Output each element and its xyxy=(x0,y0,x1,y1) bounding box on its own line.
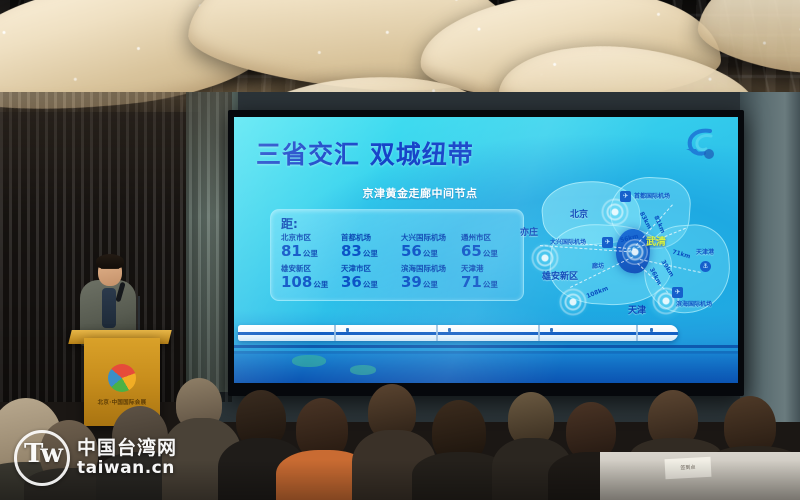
table-signage: 签到点 xyxy=(665,457,712,479)
slide-title: 三省交汇 双城纽带 xyxy=(256,135,474,171)
distance-cell: 大兴国际机场 56公里 xyxy=(399,232,457,262)
anchor-icon: ⚓ xyxy=(700,261,711,272)
distance-cell: 天津港 71公里 xyxy=(459,263,517,293)
podium-logo-text: 北京·中国国际会展 xyxy=(92,398,152,406)
distance-value: 56公里 xyxy=(401,243,457,262)
distance-value: 36公里 xyxy=(341,274,397,293)
watermark-cn-text: 中国台湾网 xyxy=(77,439,177,458)
airplane-icon: ✈ xyxy=(602,237,613,248)
map-island xyxy=(350,365,376,375)
map-label-langfang: 廊坊 xyxy=(592,261,604,270)
podium-logo-icon xyxy=(108,364,136,392)
distance-value: 81公里 xyxy=(281,243,337,262)
distance-value: 71公里 xyxy=(461,274,517,293)
distance-info-card: 距: 北京市区 81公里 首都机场 83公里 大兴国际机场 56公里 通州市区 … xyxy=(270,209,524,301)
distance-value: 108公里 xyxy=(281,274,337,293)
region-map: 北京 亦庄 雄安新区 天津 廊坊 武清 ✈ 首都国际机场 ✈ 大兴国际机场 ✈ … xyxy=(524,177,738,327)
distance-cell: 天津市区 36公里 xyxy=(339,263,397,293)
airplane-icon: ✈ xyxy=(672,287,683,298)
right-wall xyxy=(740,92,800,422)
map-poi-tianjin-port: 天津港 xyxy=(696,247,714,256)
speaker-glasses xyxy=(101,268,119,273)
high-speed-train xyxy=(238,325,678,341)
speaker-hair xyxy=(96,254,124,269)
distance-cell: 北京市区 81公里 xyxy=(279,232,337,262)
map-poi-daxing-airport: 大兴国际机场 xyxy=(550,237,586,246)
distance-value: 39公里 xyxy=(401,274,457,293)
distance-grid: 北京市区 81公里 首都机场 83公里 大兴国际机场 56公里 通州市区 65公… xyxy=(279,232,517,293)
watermark-logo-letters: Tw xyxy=(24,440,63,468)
distance-value: 83公里 xyxy=(341,243,397,262)
distance-cell: 雄安新区 108公里 xyxy=(279,263,337,293)
map-label-beijing: 北京 xyxy=(570,207,588,220)
map-label-xiongan: 雄安新区 xyxy=(542,269,578,282)
map-label-wuqing: 武清 xyxy=(646,233,666,248)
watermark-logo-icon: Tw xyxy=(14,430,70,486)
map-poi-binhai-airport: 滨海国际机场 xyxy=(676,299,712,308)
distance-cell: 通州市区 65公里 xyxy=(459,232,517,262)
swirl-wave-logo-icon xyxy=(680,127,722,161)
watermark-en-text: taiwan.cn xyxy=(77,460,177,477)
distance-value: 65公里 xyxy=(461,243,517,262)
distance-cell: 首都机场 83公里 xyxy=(339,232,397,262)
slide-subtitle: 京津黄金走廊中间节点 xyxy=(310,185,530,201)
map-label-yizhuang: 亦庄 xyxy=(520,225,538,238)
map-poi-capital-airport: 首都国际机场 xyxy=(634,191,670,200)
train-graphic xyxy=(234,311,738,383)
screenshot-root: 三省交汇 双城纽带 京津黄金走廊中间节点 距: 北京市区 81公里 首都机场 8… xyxy=(0,0,800,500)
presentation-screen: 三省交汇 双城纽带 京津黄金走廊中间节点 距: 北京市区 81公里 首都机场 8… xyxy=(234,117,738,383)
distance-cell: 滨海国际机场 39公里 xyxy=(399,263,457,293)
map-island xyxy=(292,355,326,367)
distance-card-label: 距: xyxy=(281,215,298,232)
airplane-icon: ✈ xyxy=(620,191,631,202)
watermark: Tw 中国台湾网 taiwan.cn xyxy=(14,430,177,486)
